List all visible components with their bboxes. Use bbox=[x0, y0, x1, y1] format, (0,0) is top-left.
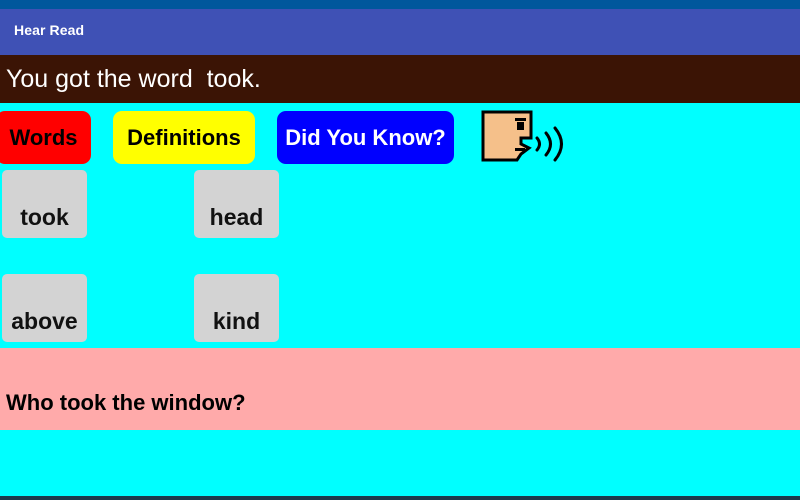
word-tile[interactable]: kind bbox=[194, 274, 279, 342]
word-tile-label: kind bbox=[194, 308, 279, 334]
words-button[interactable]: Words bbox=[0, 111, 91, 164]
mode-button-row: Words Definitions Did You Know? bbox=[0, 103, 800, 169]
app-title: Hear Read bbox=[14, 22, 84, 38]
action-bar: Hear Read bbox=[0, 9, 800, 55]
word-tile[interactable]: above bbox=[2, 274, 87, 342]
app-root: Hear Read You got the word took. Words D… bbox=[0, 0, 800, 500]
word-tile[interactable]: head bbox=[194, 170, 279, 238]
android-status-bar bbox=[0, 0, 800, 9]
word-tile-label: took bbox=[2, 204, 87, 230]
answer-area[interactable] bbox=[0, 430, 800, 496]
definitions-button[interactable]: Definitions bbox=[113, 111, 255, 164]
word-tile-label: head bbox=[194, 204, 279, 230]
did-you-know-button[interactable]: Did You Know? bbox=[277, 111, 454, 164]
result-message-banner: You got the word took. bbox=[0, 55, 800, 103]
speaking-head-icon[interactable] bbox=[477, 108, 569, 168]
word-tile[interactable]: took bbox=[2, 170, 87, 238]
question-text: Who took the window? bbox=[6, 390, 246, 416]
result-message-text: You got the word took. bbox=[6, 63, 261, 95]
question-band: Who took the window? bbox=[0, 348, 800, 430]
bottom-navigation-bar bbox=[0, 496, 800, 500]
word-tile-label: above bbox=[2, 308, 87, 334]
